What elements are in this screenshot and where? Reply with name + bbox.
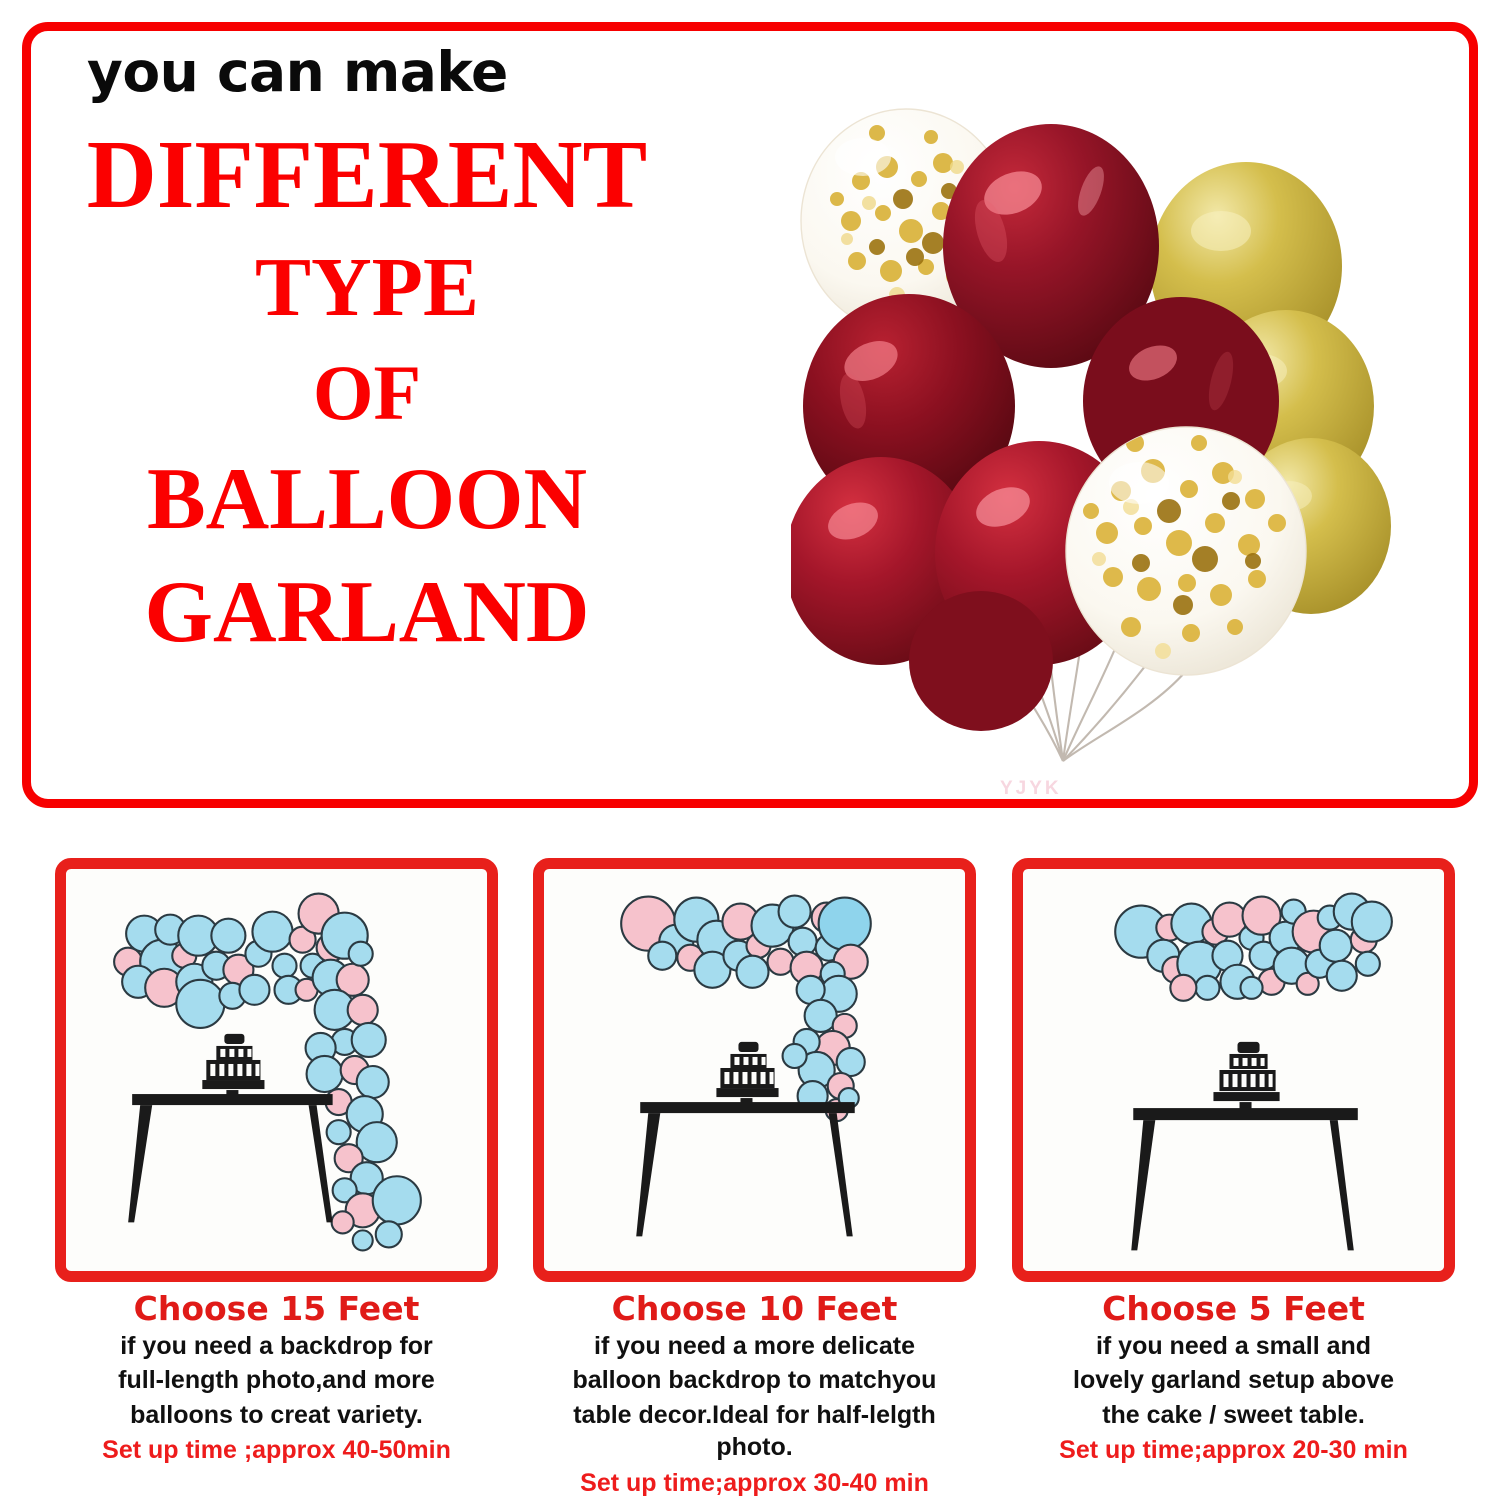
panel-body-line-1: if you need a small and — [1012, 1330, 1455, 1363]
hero-headline-line-4: BALLOON — [67, 453, 667, 546]
hero-headline-line-5: GARLAND — [67, 566, 667, 659]
options-panel-row: Choose 15 Feet if you need a backdrop fo… — [0, 858, 1500, 1498]
panel-body-line-3: balloons to creat variety. — [55, 1399, 498, 1432]
hero-headline-line-1: DIFFERENT — [67, 124, 667, 227]
panel-setup-time-15-feet: Set up time ;approx 40-50min — [55, 1434, 498, 1467]
burgundy-balloon-bottom — [909, 591, 1053, 731]
garland-illustration-15-feet — [55, 858, 498, 1282]
panel-body-line-2: full-length photo,and more — [55, 1364, 498, 1397]
caption-5-feet: Choose 5 Feet if you need a small and lo… — [1012, 1290, 1455, 1467]
option-panel-10-feet[interactable]: Choose 10 Feet if you need a more delica… — [533, 858, 976, 1499]
hero-script-line: you can make — [67, 45, 667, 100]
garland-illustration-5-feet — [1012, 858, 1455, 1282]
panel-body-line-2: balloon backdrop to matchyou — [533, 1364, 976, 1397]
hero-text-block: you can make DIFFERENT TYPE OF BALLOON G… — [67, 45, 667, 659]
hero-frame: you can make DIFFERENT TYPE OF BALLOON G… — [22, 22, 1478, 808]
panel-body-line-1: if you need a backdrop for — [55, 1330, 498, 1363]
garland-illustration-10-feet — [533, 858, 976, 1282]
hero-headline-line-3: OF — [67, 352, 667, 435]
panel-title-5-feet: Choose 5 Feet — [1012, 1290, 1455, 1328]
watermark: YJYK — [1000, 778, 1062, 800]
panel-title-15-feet: Choose 15 Feet — [55, 1290, 498, 1328]
option-panel-5-feet[interactable]: Choose 5 Feet if you need a small and lo… — [1012, 858, 1455, 1467]
balloon-bunch-photo — [791, 71, 1451, 791]
hero-headline-line-2: TYPE — [67, 243, 667, 332]
caption-10-feet: Choose 10 Feet if you need a more delica… — [533, 1290, 976, 1499]
panel-body-line-2: lovely garland setup above — [1012, 1364, 1455, 1397]
infographic-page: you can make DIFFERENT TYPE OF BALLOON G… — [0, 0, 1500, 1500]
panel-body-line-3: the cake / sweet table. — [1012, 1399, 1455, 1432]
panel-body-line-3: table decor.Ideal for half-lelgth photo. — [533, 1399, 976, 1464]
option-panel-15-feet[interactable]: Choose 15 Feet if you need a backdrop fo… — [55, 858, 498, 1467]
caption-15-feet: Choose 15 Feet if you need a backdrop fo… — [55, 1290, 498, 1467]
panel-body-line-1: if you need a more delicate — [533, 1330, 976, 1363]
confetti-balloon-lower-right — [1066, 427, 1306, 675]
panel-setup-time-10-feet: Set up time;approx 30-40 min — [533, 1467, 976, 1500]
panel-title-10-feet: Choose 10 Feet — [533, 1290, 976, 1328]
panel-setup-time-5-feet: Set up time;approx 20-30 min — [1012, 1434, 1455, 1467]
